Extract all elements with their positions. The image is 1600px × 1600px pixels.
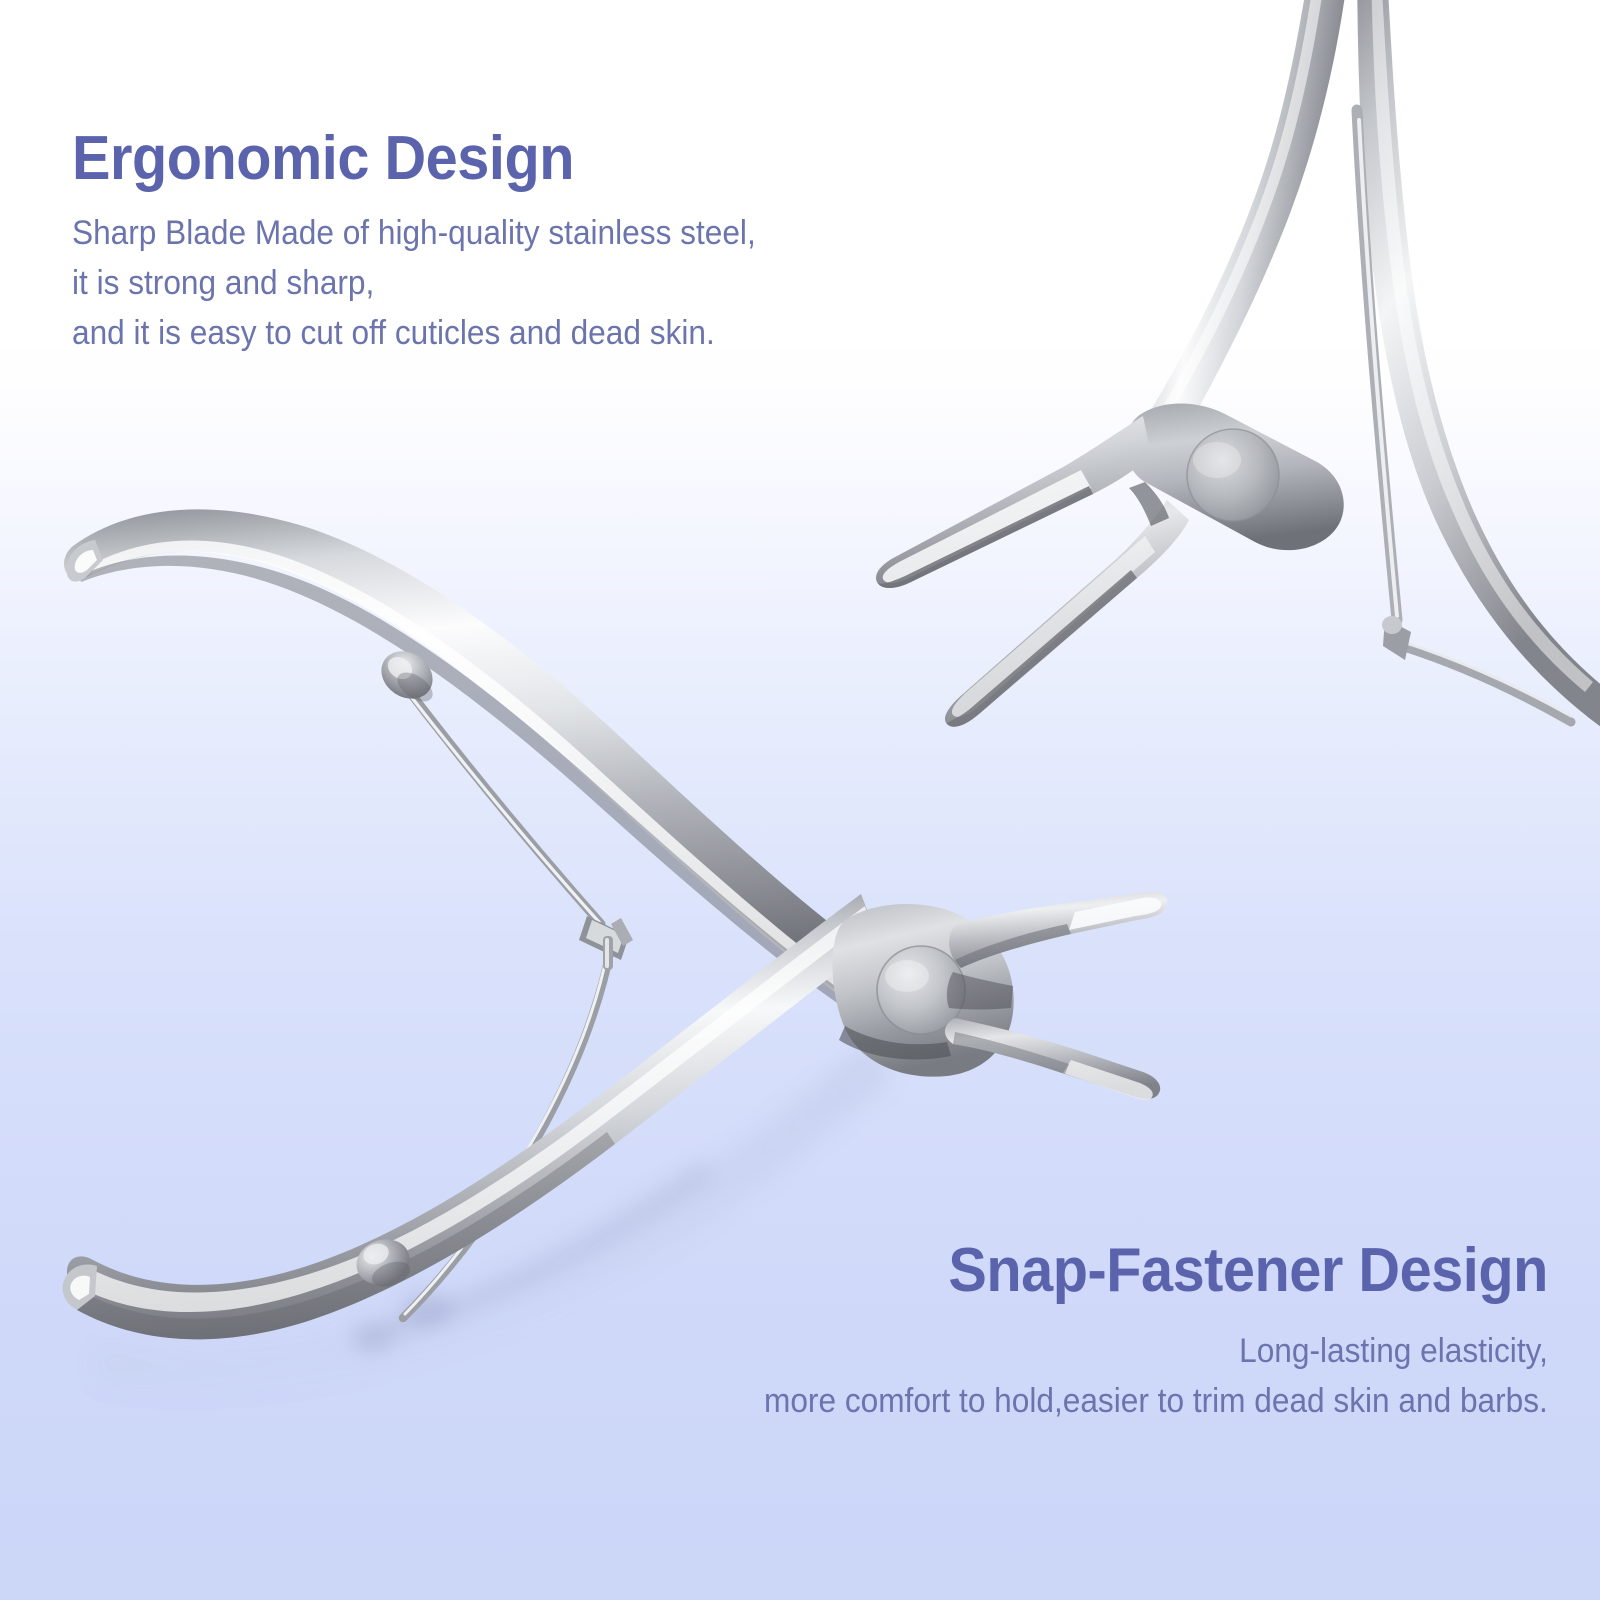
snap-fastener-description: Long-lasting elasticity, more comfort to… — [705, 1326, 1548, 1426]
ergonomic-description: Sharp Blade Made of high-quality stainle… — [72, 208, 807, 358]
snap-fastener-line-1: Long-lasting elasticity, — [764, 1326, 1548, 1376]
infographic-canvas: Ergonomic Design Sharp Blade Made of hig… — [0, 0, 1600, 1600]
ergonomic-line-3: and it is easy to cut off cuticles and d… — [72, 308, 756, 358]
snap-fastener-line-2: more comfort to hold,easier to trim dead… — [764, 1376, 1548, 1426]
page-title-snap-fastener: Snap-Fastener Design — [764, 1238, 1548, 1304]
ergonomic-line-2: it is strong and sharp, — [72, 258, 756, 308]
top-tool-upper-handle — [1145, 0, 1353, 446]
page-title-ergonomic: Ergonomic Design — [72, 126, 756, 192]
main-tool-upper-jaw — [949, 892, 1167, 968]
feature-block-ergonomic: Ergonomic Design Sharp Blade Made of hig… — [72, 126, 807, 358]
ergonomic-line-1: Sharp Blade Made of high-quality stainle… — [72, 208, 756, 258]
feature-block-snap-fastener: Snap-Fastener Design Long-lasting elasti… — [705, 1238, 1548, 1426]
